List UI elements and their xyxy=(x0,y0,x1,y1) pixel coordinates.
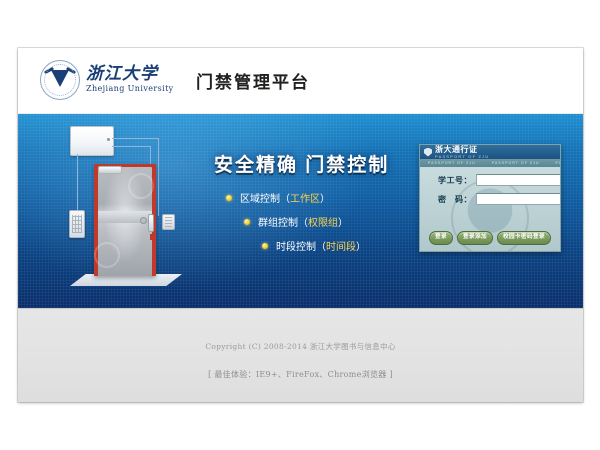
feature-highlight: 时间段 xyxy=(326,238,356,253)
site-footer: Copyright (C) 2008-2014 浙江大学图书与信息中心 [ 最佳… xyxy=(18,308,583,402)
password-input[interactable] xyxy=(476,193,561,205)
list-item: 区域控制（工作区） xyxy=(226,190,366,205)
login-form: 学工号： 密 码： xyxy=(420,167,560,205)
login-panel: 浙大通行证 PASSPORT OF ZJU PASSPORT OF ZJU PA… xyxy=(419,144,561,252)
form-row-password: 密 码： xyxy=(428,193,552,205)
wire xyxy=(112,138,159,139)
student-staff-id-input[interactable] xyxy=(476,174,561,186)
login-passport-strip: PASSPORT OF ZJU PASSPORT OF ZJU PASSPORT… xyxy=(420,159,560,167)
feature-tail: ） xyxy=(338,214,348,229)
page-title: 门禁管理平台 xyxy=(196,68,310,93)
login-panel-header: 浙大通行证 PASSPORT OF ZJU xyxy=(420,145,560,159)
strip-text: PASSPORT OF ZJU xyxy=(548,161,561,165)
door-closer-icon xyxy=(98,166,122,174)
login-add-button[interactable]: 登录添加 xyxy=(457,231,493,245)
feature-highlight: 权限组 xyxy=(308,214,338,229)
brand-text: 浙江大学 Zhejiang University xyxy=(86,66,174,93)
login-title-group: 浙大通行证 PASSPORT OF ZJU xyxy=(435,146,489,159)
zju-seal-icon xyxy=(40,60,80,100)
card-reader-icon xyxy=(162,214,175,230)
banner-headline: 安全精确 门禁控制 xyxy=(214,150,389,177)
password-label: 密 码： xyxy=(428,194,476,205)
page-container: 浙江大学 Zhejiang University 门禁管理平台 xyxy=(18,48,583,402)
wire xyxy=(158,138,159,216)
feature-text: 区域控制（ xyxy=(240,190,290,205)
shield-icon xyxy=(424,148,432,157)
university-name-en: Zhejiang University xyxy=(86,84,174,94)
student-staff-id-label: 学工号： xyxy=(428,175,476,186)
feature-text: 时段控制（ xyxy=(276,238,326,253)
wire xyxy=(112,146,151,147)
feature-highlight: 工作区 xyxy=(290,190,320,205)
login-title: 浙大通行证 xyxy=(435,146,489,154)
login-subtitle: PASSPORT OF ZJU xyxy=(435,155,489,159)
strip-text: PASSPORT OF ZJU xyxy=(420,161,484,165)
login-button[interactable]: 登录 xyxy=(429,231,453,245)
feature-list: 区域控制（工作区） 群组控制（权限组） 时段控制（时间段） xyxy=(226,190,366,262)
form-row-id: 学工号： xyxy=(428,174,552,186)
access-controller-box-icon xyxy=(70,126,114,156)
copyright-text: Copyright (C) 2008-2014 浙江大学图书与信息中心 xyxy=(18,309,583,352)
hero-banner: 安全精确 门禁控制 区域控制（工作区） 群组控制（权限组） 时段控制（时间段） … xyxy=(18,114,583,308)
login-button-group: 登录 登录添加 校园卡密码登录 xyxy=(420,231,560,245)
browser-note: [ 最佳体验：IE9+、FireFox、Chrome浏览器 ] xyxy=(18,352,583,380)
keypad-reader-icon xyxy=(69,210,85,238)
bullet-dot-icon xyxy=(244,219,250,225)
strip-text: PASSPORT OF ZJU xyxy=(484,161,548,165)
feature-text: 群组控制（ xyxy=(258,214,308,229)
door-illustration xyxy=(52,122,212,302)
list-item: 群组控制（权限组） xyxy=(244,214,366,229)
wire xyxy=(77,154,78,212)
door-indicator xyxy=(150,234,153,240)
door-handle-icon xyxy=(148,214,154,232)
university-name-cn: 浙江大学 xyxy=(86,66,174,84)
campus-card-login-button[interactable]: 校园卡密码登录 xyxy=(497,231,551,245)
feature-tail: ） xyxy=(356,238,366,253)
bullet-dot-icon xyxy=(262,243,268,249)
brand-logo[interactable]: 浙江大学 Zhejiang University xyxy=(40,60,174,100)
list-item: 时段控制（时间段） xyxy=(262,238,366,253)
feature-tail: ） xyxy=(320,190,330,205)
site-header: 浙江大学 Zhejiang University 门禁管理平台 xyxy=(18,48,583,114)
door-lock-icon xyxy=(140,217,147,224)
bullet-dot-icon xyxy=(226,195,232,201)
